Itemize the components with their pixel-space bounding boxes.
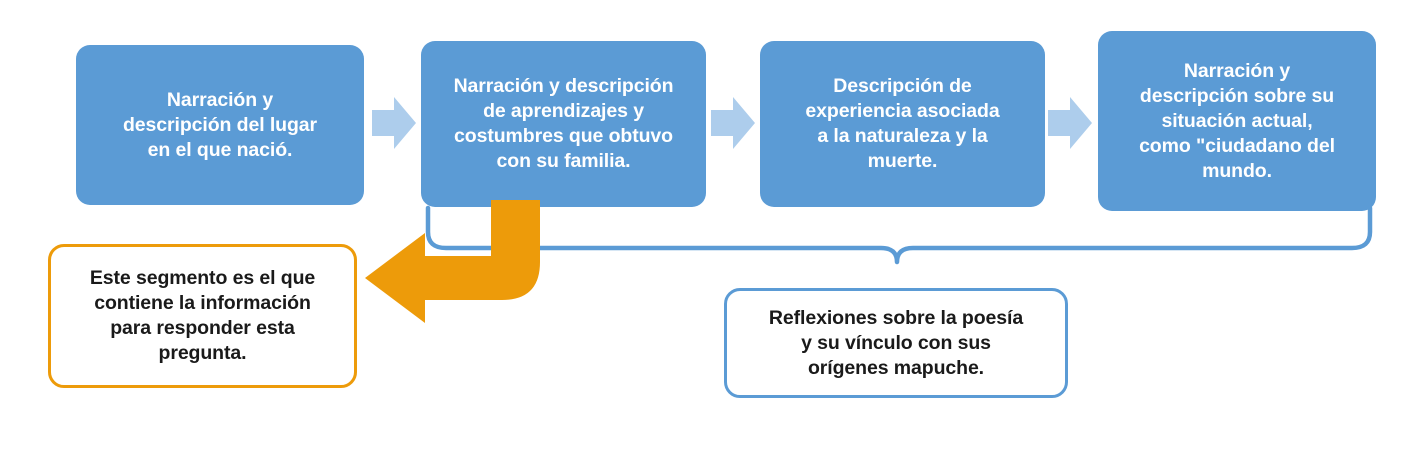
- process-box-step-3[interactable]: Descripción de experiencia asociada a la…: [760, 41, 1045, 207]
- process-box-label: Descripción de experiencia asociada a la…: [805, 74, 999, 174]
- highlight-callout-box[interactable]: Este segmento es el que contiene la info…: [48, 244, 357, 388]
- process-box-step-4[interactable]: Narración y descripción sobre su situaci…: [1098, 31, 1376, 211]
- connector-2-3: [711, 97, 755, 149]
- process-box-label: Narración y descripción sobre su situaci…: [1139, 59, 1335, 184]
- curly-brace-icon: [428, 208, 1370, 262]
- right-arrow-icon: [1048, 97, 1092, 149]
- reflexiones-callout-box[interactable]: Reflexiones sobre la poesía y su vínculo…: [724, 288, 1068, 398]
- process-flow-diagram: Narración y descripción del lugar en el …: [0, 0, 1424, 462]
- connector-3-4: [1048, 97, 1092, 149]
- process-box-step-2[interactable]: Narración y descripción de aprendizajes …: [421, 41, 706, 207]
- right-arrow-icon: [711, 97, 755, 149]
- process-box-label: Narración y descripción del lugar en el …: [123, 88, 317, 163]
- process-box-step-1[interactable]: Narración y descripción del lugar en el …: [76, 45, 364, 205]
- process-box-label: Narración y descripción de aprendizajes …: [454, 74, 674, 174]
- reflexiones-callout-label: Reflexiones sobre la poesía y su vínculo…: [769, 306, 1023, 381]
- right-arrow-icon: [372, 97, 416, 149]
- elbow-arrow-left-icon: [365, 200, 540, 323]
- connector-1-2: [372, 97, 416, 149]
- highlight-callout-label: Este segmento es el que contiene la info…: [90, 266, 315, 366]
